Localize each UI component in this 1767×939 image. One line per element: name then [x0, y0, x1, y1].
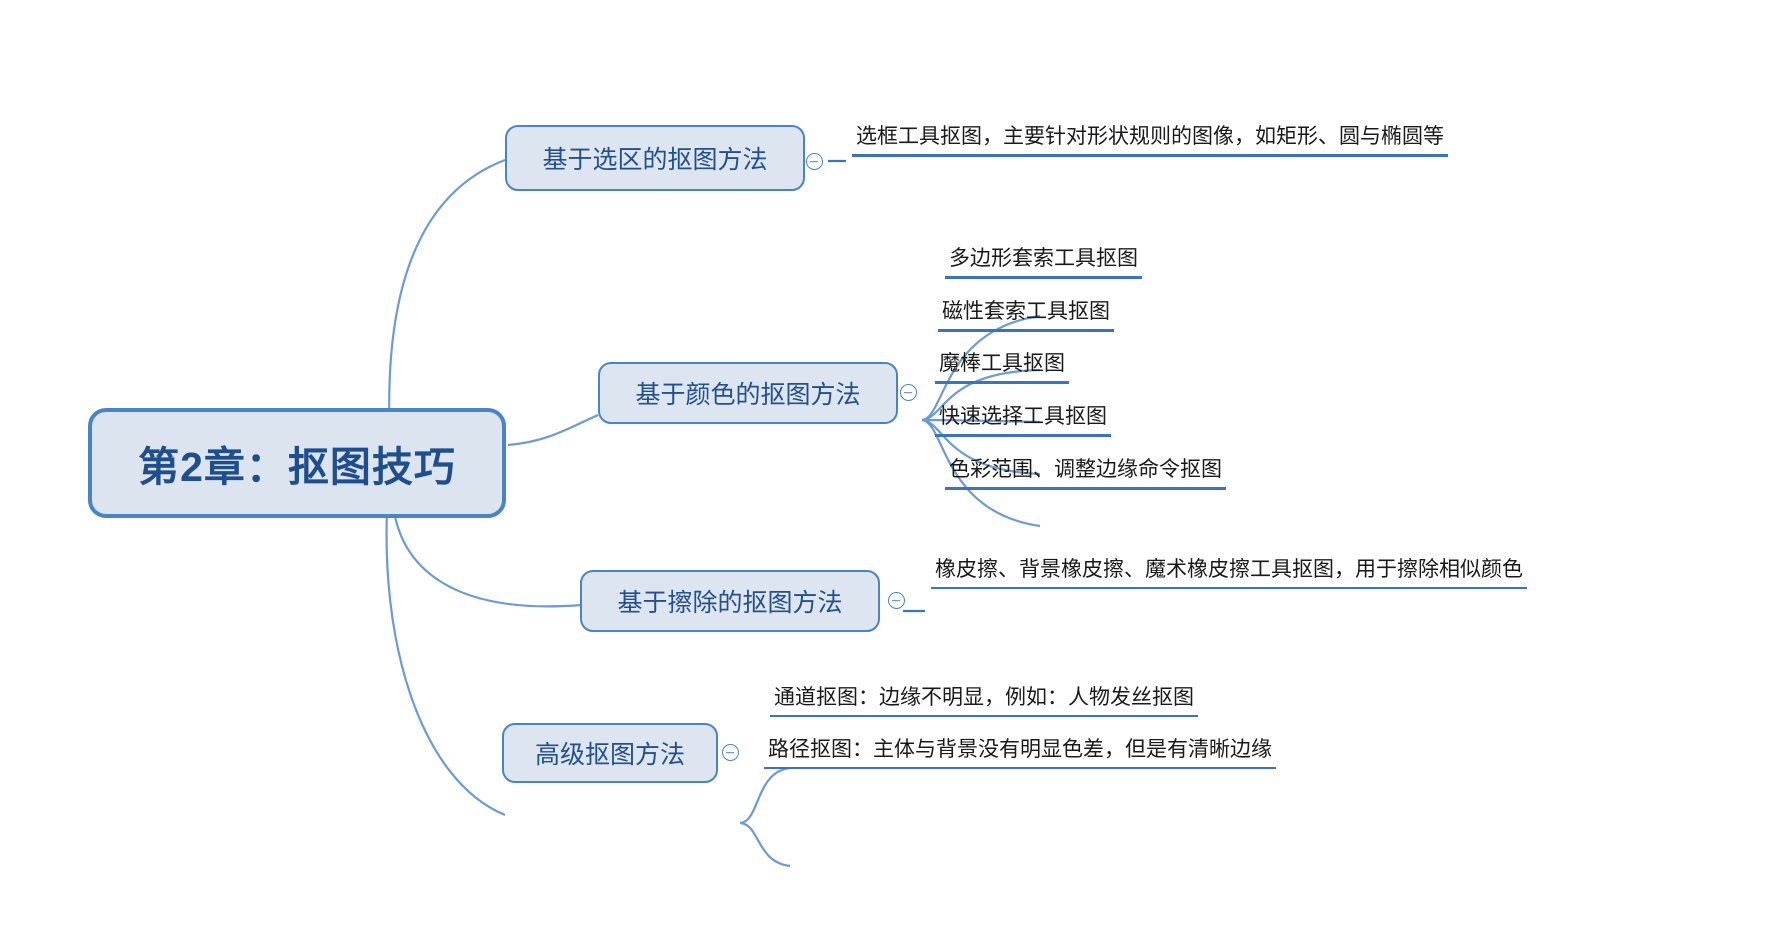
leaf-item[interactable]: 通道抠图：边缘不明显，例如：人物发丝抠图 [770, 686, 1198, 717]
leaf-item[interactable]: 快速选择工具抠图 [935, 405, 1111, 437]
branch-node-advanced-label: 高级抠图方法 [535, 735, 685, 771]
leaf-item[interactable]: 多边形套索工具抠图 [945, 247, 1142, 279]
root-node-label: 第2章：抠图技巧 [138, 433, 456, 493]
branch-node-selection[interactable]: 基于选区的抠图方法 [505, 125, 805, 191]
branch-node-erase-label: 基于擦除的抠图方法 [617, 583, 842, 619]
branch-node-selection-label: 基于选区的抠图方法 [542, 140, 767, 176]
branch-node-erase[interactable]: 基于擦除的抠图方法 [580, 570, 880, 632]
branch-node-color-label: 基于颜色的抠图方法 [635, 375, 860, 411]
collapse-minus-icon[interactable] [806, 153, 823, 170]
root-node[interactable]: 第2章：抠图技巧 [88, 408, 506, 518]
mindmap-canvas: 第2章：抠图技巧 基于选区的抠图方法 选框工具抠图，主要针对形状规则的图像，如矩… [0, 0, 1767, 939]
collapse-minus-icon[interactable] [900, 384, 917, 401]
collapse-minus-icon[interactable] [888, 592, 905, 609]
leaf-item[interactable]: 魔棒工具抠图 [935, 352, 1069, 384]
leaf-item[interactable]: 选框工具抠图，主要针对形状规则的图像，如矩形、圆与椭圆等 [852, 125, 1448, 157]
branch-node-advanced[interactable]: 高级抠图方法 [502, 723, 718, 783]
leaf-item[interactable]: 色彩范围、调整边缘命令抠图 [945, 458, 1226, 490]
leaf-item[interactable]: 磁性套索工具抠图 [938, 300, 1114, 332]
collapse-minus-icon[interactable] [722, 744, 739, 761]
branch-node-color[interactable]: 基于颜色的抠图方法 [598, 362, 898, 424]
leaf-item[interactable]: 橡皮擦、背景橡皮擦、魔术橡皮擦工具抠图，用于擦除相似颜色 [931, 558, 1527, 589]
leaf-item[interactable]: 路径抠图：主体与背景没有明显色差，但是有清晰边缘 [764, 738, 1276, 769]
